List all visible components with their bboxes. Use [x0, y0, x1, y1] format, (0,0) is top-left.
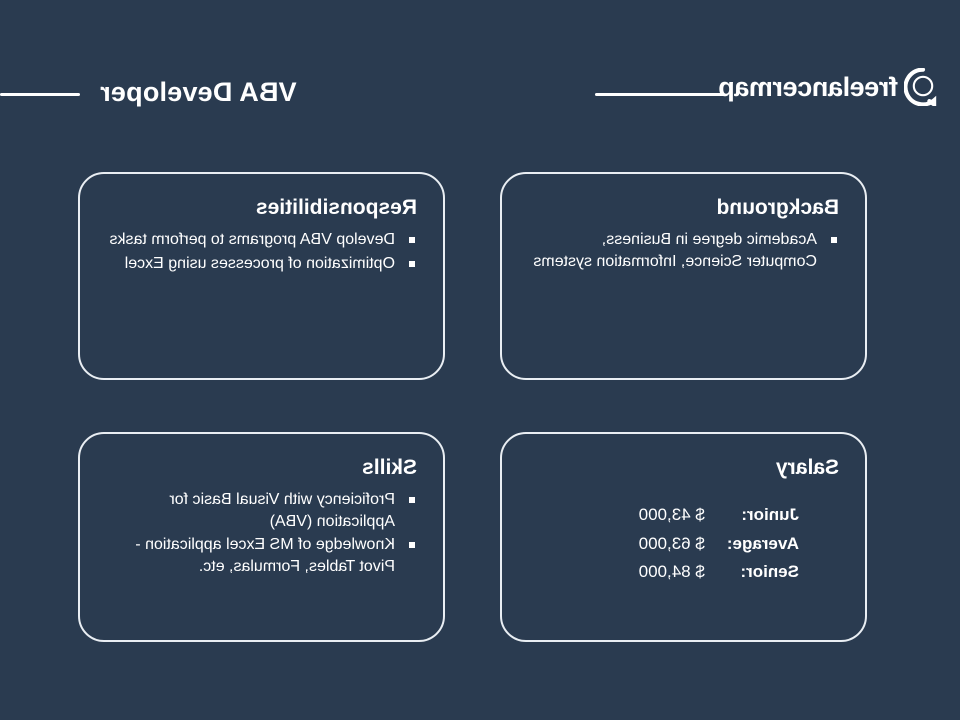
- card-title: Background: [528, 196, 839, 219]
- list-item: Academic degree in Business, Computer Sc…: [528, 229, 839, 272]
- bullet-list: Academic degree in Business, Computer Sc…: [528, 229, 839, 272]
- bullet-square-icon: [409, 261, 415, 267]
- salary-amount: $ 84,000: [639, 558, 705, 587]
- salary-level-label: Average:: [705, 530, 799, 559]
- header-divider-left: [595, 93, 725, 96]
- list-item-text: Proficiency with Visual Basic for Applic…: [169, 491, 395, 530]
- list-item-text: Optimization of processes using Excel: [125, 255, 395, 272]
- salary-amount: $ 43,000: [639, 501, 705, 530]
- salary-table: Junior: $ 43,000 Average: $ 63,000 Senio…: [639, 501, 799, 587]
- bullet-square-icon: [409, 542, 415, 548]
- card-responsibilities: Responsibilities Develop VBA programs to…: [78, 172, 445, 380]
- bullet-list: Develop VBA programs to perform tasks Op…: [106, 229, 417, 274]
- bullet-square-icon: [409, 497, 415, 503]
- table-row: Senior: $ 84,000: [639, 558, 799, 587]
- list-item-text: Academic degree in Business, Computer Sc…: [533, 231, 817, 270]
- list-item-text: Develop VBA programs to perform tasks: [110, 231, 395, 248]
- card-title: Salary: [528, 456, 839, 479]
- card-salary: Salary Junior: $ 43,000 Average: $ 63,00…: [500, 432, 867, 642]
- list-item-text: Knowledge of MS Excel application - Pivo…: [135, 536, 395, 575]
- freelancermap-globe-icon: [904, 68, 942, 106]
- bullet-list: Proficiency with Visual Basic for Applic…: [106, 489, 417, 577]
- card-title: Responsibilities: [106, 196, 417, 219]
- salary-amount: $ 63,000: [639, 530, 705, 559]
- table-row: Junior: $ 43,000: [639, 501, 799, 530]
- list-item: Knowledge of MS Excel application - Pivo…: [106, 534, 417, 577]
- salary-level-label: Junior:: [705, 501, 799, 530]
- card-background: Background Academic degree in Business, …: [500, 172, 867, 380]
- brand-logo[interactable]: freelancermap: [719, 68, 942, 106]
- brand-name: freelancermap: [719, 74, 898, 101]
- card-title: Skills: [106, 456, 417, 479]
- header-divider-right: [0, 93, 80, 96]
- table-row: Average: $ 63,000: [639, 530, 799, 559]
- list-item: Develop VBA programs to perform tasks: [106, 229, 417, 251]
- bullet-square-icon: [409, 237, 415, 243]
- bullet-square-icon: [831, 237, 837, 243]
- header: freelancermap VBA Developer: [0, 0, 960, 160]
- salary-level-label: Senior:: [705, 558, 799, 587]
- list-item: Proficiency with Visual Basic for Applic…: [106, 489, 417, 532]
- list-item: Optimization of processes using Excel: [106, 253, 417, 275]
- card-skills: Skills Proficiency with Visual Basic for…: [78, 432, 445, 642]
- infographic-canvas: freelancermap VBA Developer Background A…: [0, 0, 960, 720]
- page-title: VBA Developer: [100, 77, 297, 108]
